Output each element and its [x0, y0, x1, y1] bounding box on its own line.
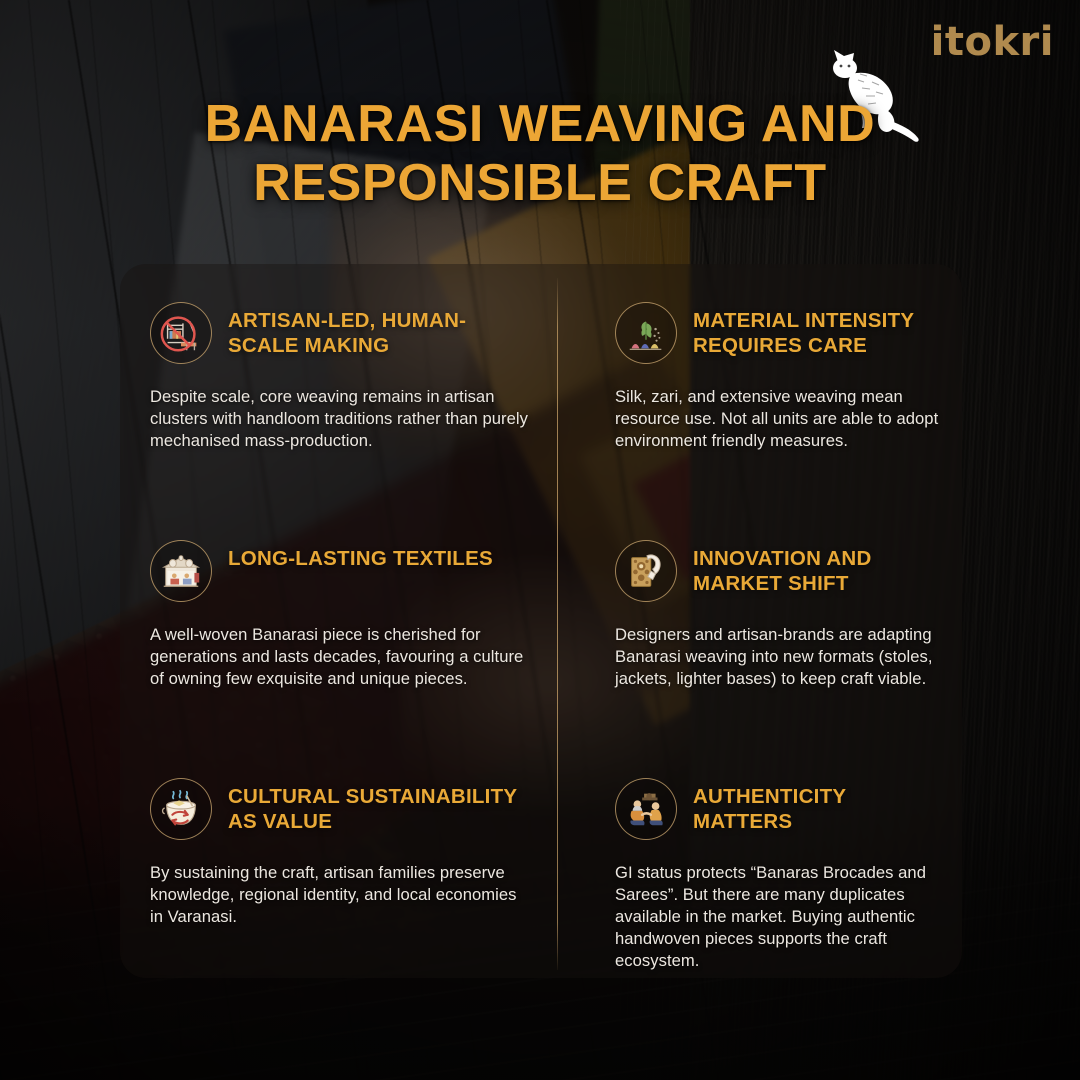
- info-card-long-lasting-textiles: LONG-LASTING TEXTILES A well-woven Banar…: [120, 502, 557, 740]
- craft-storefront-icon: [150, 540, 212, 602]
- natural-dye-leaves-icon: [615, 302, 677, 364]
- brand-wordmark: itokri: [931, 22, 1054, 62]
- card-title: MATERIAL INTENSITY REQUIRES CARE: [693, 302, 940, 358]
- card-header: MATERIAL INTENSITY REQUIRES CARE: [615, 302, 940, 364]
- card-header: INNOVATION AND MARKET SHIFT: [615, 540, 940, 602]
- info-card-innovation-market-shift: INNOVATION AND MARKET SHIFT Designers an…: [557, 502, 962, 740]
- info-card-authenticity-matters: AUTHENTICITY MATTERS GI status protects …: [557, 740, 962, 978]
- card-title: INNOVATION AND MARKET SHIFT: [693, 540, 940, 596]
- card-body: Designers and artisan-brands are adaptin…: [615, 624, 940, 690]
- steaming-dye-pot-icon: [150, 778, 212, 840]
- card-header: AUTHENTICITY MATTERS: [615, 778, 940, 840]
- info-card-material-intensity: MATERIAL INTENSITY REQUIRES CARE Silk, z…: [557, 264, 962, 502]
- card-title: LONG-LASTING TEXTILES: [228, 540, 493, 571]
- hand-holding-fabric-swatch-icon: [615, 540, 677, 602]
- card-body: Despite scale, core weaving remains in a…: [150, 386, 531, 452]
- card-body: A well-woven Banarasi piece is cherished…: [150, 624, 531, 690]
- info-card-cultural-sustainability: CULTURAL SUSTAINABILITY AS VALUE By sust…: [120, 740, 557, 978]
- card-body: Silk, zari, and extensive weaving mean r…: [615, 386, 940, 452]
- card-title: CULTURAL SUSTAINABILITY AS VALUE: [228, 778, 531, 834]
- card-body: GI status protects “Banaras Brocades and…: [615, 862, 940, 971]
- card-title: ARTISAN-LED, HUMAN-SCALE MAKING: [228, 302, 531, 358]
- card-title: AUTHENTICITY MATTERS: [693, 778, 940, 834]
- two-artisans-seated-icon: [615, 778, 677, 840]
- no-mass-production-loom-icon: [150, 302, 212, 364]
- info-card-artisan-led: ARTISAN-LED, HUMAN-SCALE MAKING Despite …: [120, 264, 557, 502]
- card-body: By sustaining the craft, artisan familie…: [150, 862, 531, 928]
- page-title: BANARASI WEAVING AND RESPONSIBLE CRAFT: [0, 95, 1080, 213]
- card-header: ARTISAN-LED, HUMAN-SCALE MAKING: [150, 302, 531, 364]
- card-header: LONG-LASTING TEXTILES: [150, 540, 531, 602]
- brand-logo: itokri: [931, 22, 1054, 62]
- card-header: CULTURAL SUSTAINABILITY AS VALUE: [150, 778, 531, 840]
- info-card-grid: ARTISAN-LED, HUMAN-SCALE MAKING Despite …: [120, 264, 962, 978]
